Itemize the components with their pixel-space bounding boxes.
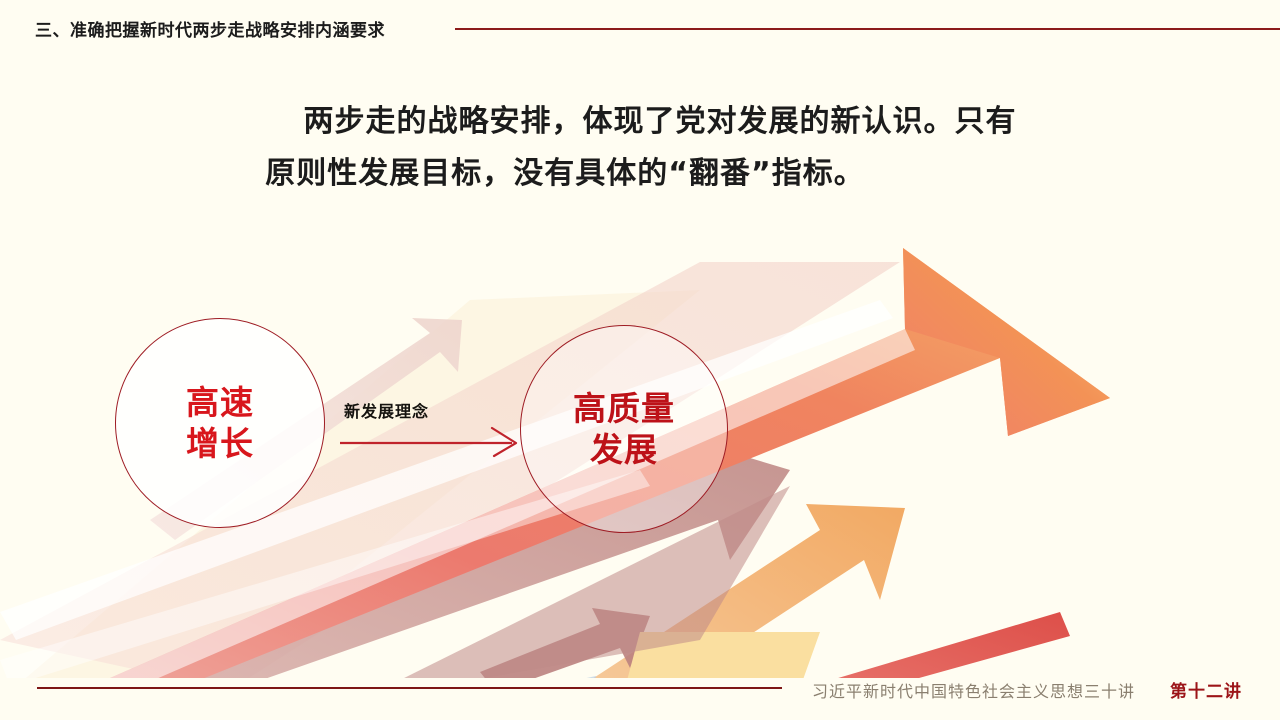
slide-canvas: 三、准确把握新时代两步走战略安排内涵要求 两步走的战略安排，体现了党对发展的新认… <box>0 0 1280 720</box>
node-high-speed-growth-line-2: 增长 <box>186 423 254 464</box>
connector-group: 新发展理念 <box>340 398 530 468</box>
node-high-quality-development-line-2: 发展 <box>590 429 658 470</box>
section-heading: 三、准确把握新时代两步走战略安排内涵要求 <box>35 16 385 41</box>
node-high-quality-development[interactable]: 高质量 发展 <box>520 325 728 533</box>
statement-line-1: 两步走的战略安排，体现了党对发展的新认识。只有 <box>0 96 1280 148</box>
connector-arrow-icon <box>340 426 530 460</box>
slide-footer: 习近平新时代中国特色社会主义思想三十讲 第十二讲 <box>0 676 1280 720</box>
footer-divider-rule <box>37 687 782 689</box>
slide-header: 三、准确把握新时代两步走战略安排内涵要求 <box>0 0 1280 56</box>
node-high-speed-growth-line-1: 高速 <box>186 382 254 423</box>
header-divider-rule <box>455 28 1280 30</box>
statement-line-2: 原则性发展目标，没有具体的“翻番”指标。 <box>0 148 1280 200</box>
footer-lecture-number: 第十二讲 <box>1170 677 1242 702</box>
connector-label: 新发展理念 <box>344 398 429 422</box>
footer-series-title: 习近平新时代中国特色社会主义思想三十讲 <box>812 678 1135 702</box>
main-statement: 两步走的战略安排，体现了党对发展的新认识。只有 原则性发展目标，没有具体的“翻番… <box>0 96 1280 200</box>
arrow-sheen-stripe <box>0 300 893 686</box>
node-high-speed-growth[interactable]: 高速 增长 <box>115 318 325 528</box>
node-high-quality-development-line-1: 高质量 <box>573 388 675 429</box>
